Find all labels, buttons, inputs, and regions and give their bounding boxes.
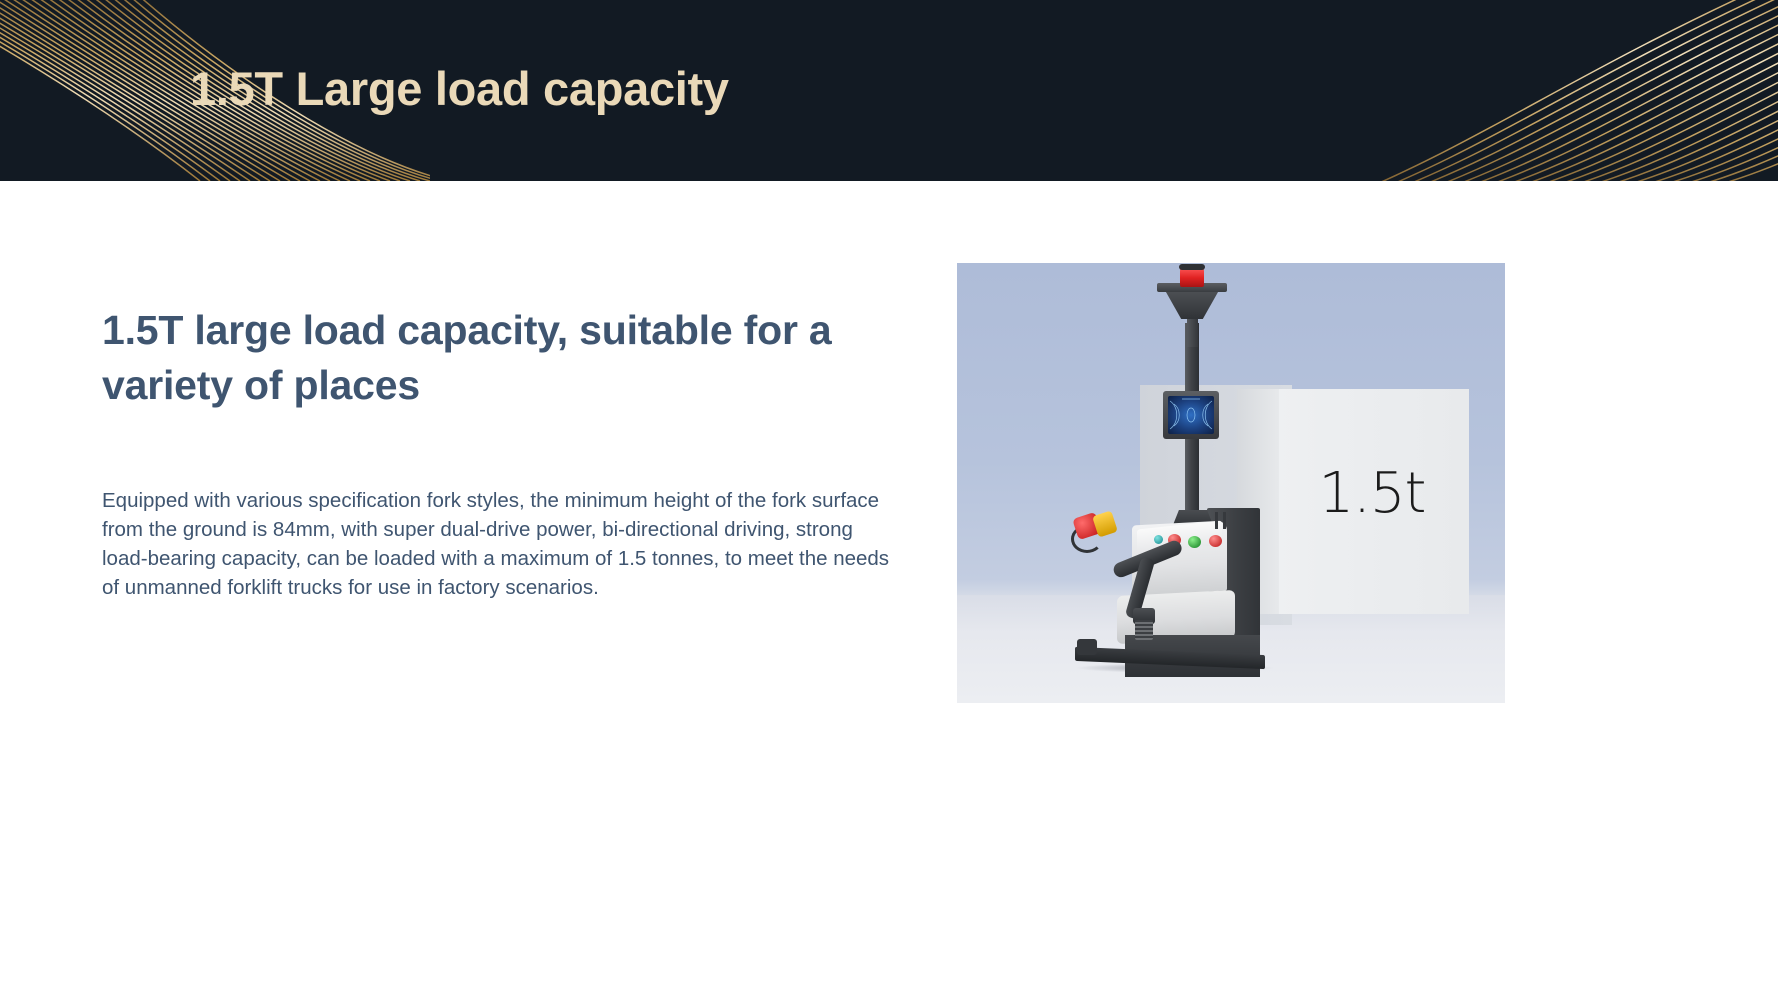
text-column: 1.5T large load capacity, suitable for a…: [102, 303, 912, 602]
console-indicator-teal: [1154, 535, 1163, 544]
section-body-text: Equipped with various specification fork…: [102, 486, 892, 602]
robot-tiller-spring: [1135, 620, 1153, 640]
console-button-green: [1188, 536, 1201, 548]
robot-display-screen: [1168, 396, 1214, 434]
section-heading: 1.5T large load capacity, suitable for a…: [102, 303, 912, 412]
robot-fork-foot: [1077, 639, 1097, 655]
main-content-area: 1.5T large load capacity, suitable for a…: [0, 181, 1778, 1000]
robot-antenna-left: [1215, 512, 1218, 529]
screen-face-graphic: [1168, 396, 1214, 434]
page-title: 1.5T Large load capacity: [190, 62, 729, 116]
agv-forklift-robot: [957, 263, 1505, 703]
robot-antenna-right: [1223, 512, 1226, 529]
gold-lines-decoration-right: [1218, 0, 1778, 181]
header-banner: 1.5T Large load capacity: [0, 0, 1778, 181]
robot-beacon-light: [1180, 267, 1204, 287]
console-button-red-right: [1209, 535, 1222, 547]
robot-beacon-cap: [1179, 264, 1205, 270]
product-image: 1.5t: [957, 263, 1505, 703]
